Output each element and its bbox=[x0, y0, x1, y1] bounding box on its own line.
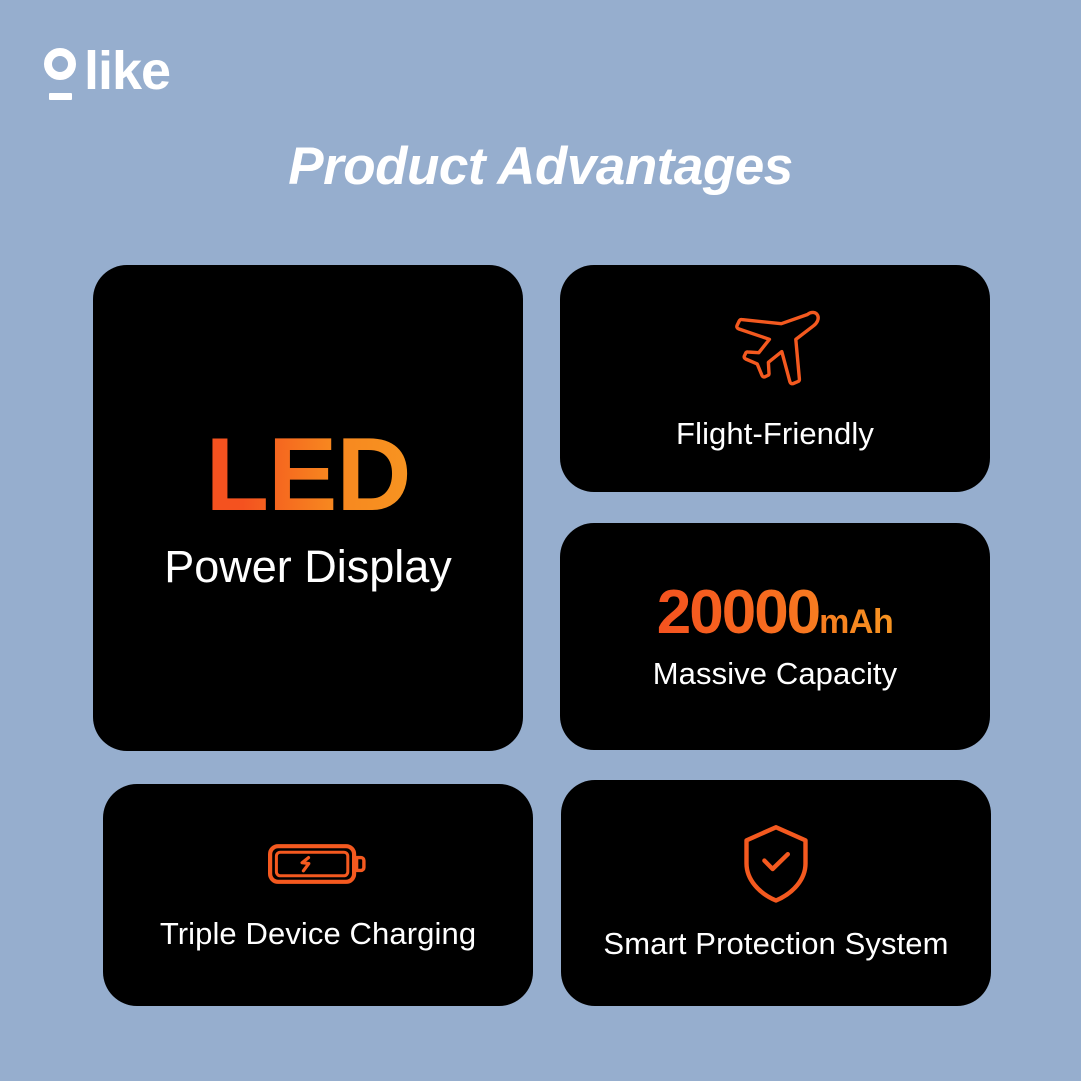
logo-wordmark: like bbox=[84, 43, 170, 99]
flight-card-label: Flight-Friendly bbox=[676, 416, 874, 452]
feature-card-flight-friendly[interactable]: Flight-Friendly bbox=[560, 265, 990, 492]
feature-card-capacity[interactable]: 20000 mAh Massive Capacity bbox=[560, 523, 990, 750]
logo-underline-icon bbox=[49, 93, 72, 100]
airplane-icon bbox=[729, 306, 821, 394]
led-headline: LED bbox=[206, 423, 411, 527]
capacity-unit: mAh bbox=[819, 605, 893, 639]
capacity-headline: 20000 mAh bbox=[657, 582, 893, 644]
shield-check-icon bbox=[741, 824, 811, 904]
feature-card-triple-charging[interactable]: Triple Device Charging bbox=[103, 784, 533, 1006]
feature-card-smart-protection[interactable]: Smart Protection System bbox=[561, 780, 991, 1006]
protection-card-label: Smart Protection System bbox=[603, 926, 948, 962]
feature-card-led[interactable]: LED Power Display bbox=[93, 265, 523, 751]
logo-ring-icon bbox=[44, 48, 76, 80]
battery-charging-icon bbox=[268, 838, 368, 890]
page-title: Product Advantages bbox=[0, 136, 1081, 197]
triple-card-label: Triple Device Charging bbox=[160, 916, 476, 952]
logo-o-icon bbox=[42, 43, 90, 107]
brand-logo: like bbox=[42, 43, 170, 107]
capacity-number: 20000 bbox=[657, 582, 819, 644]
capacity-card-label: Massive Capacity bbox=[653, 656, 898, 692]
led-label: Power Display bbox=[164, 541, 452, 593]
